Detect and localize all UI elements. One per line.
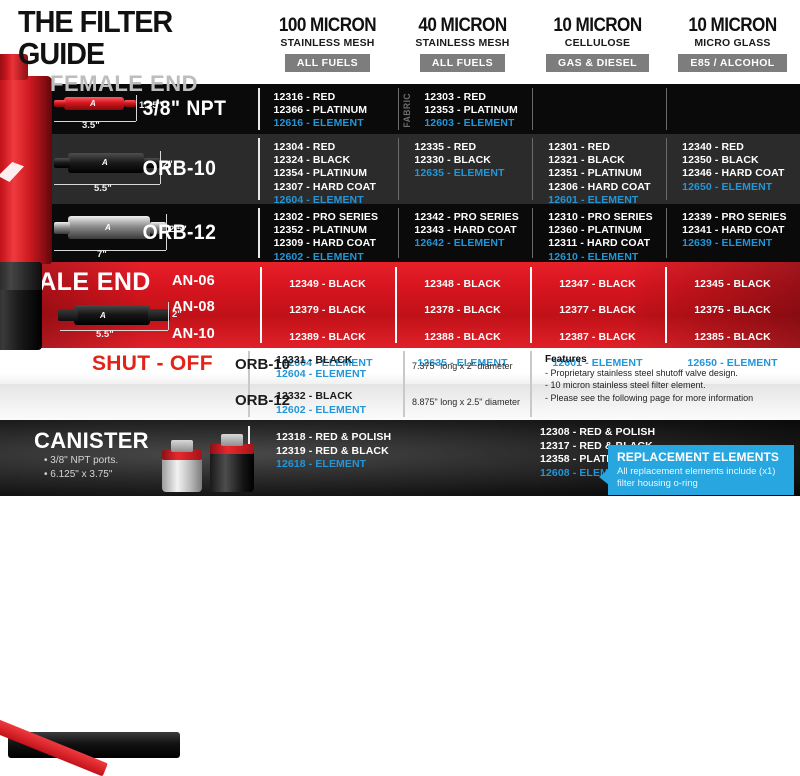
male-part-number-cell: 12345 - BLACK12375 - BLACK12385 - BLACK1… <box>665 262 800 348</box>
column-material: CELLULOSE <box>530 37 665 49</box>
product-grid: A3.5"1.25"3/8" NPT12316 - RED12366 - PLA… <box>0 84 800 499</box>
row-label: ORB-12 <box>139 221 216 245</box>
part-number: 12302 - PRO SERIES <box>274 211 399 224</box>
canister-specs: • 3/8" NPT ports. • 6.125" x 3.75" <box>44 454 118 482</box>
column-fuel-badge: GAS & DIESEL <box>546 54 649 72</box>
replacement-elements-callout: REPLACEMENT ELEMENTS All replacement ele… <box>608 445 794 495</box>
part-number: 12318 - RED & POLISH <box>276 431 391 445</box>
shut-off-parts-orb10: 12331 - BLACK 12604 - ELEMENT <box>276 354 366 381</box>
filter-end-right <box>124 100 136 107</box>
column-header-1: 100 MICRONSTAINLESS MESHALL FUELS <box>260 12 395 84</box>
male-part-number-cell: 12347 - BLACK12377 - BLACK12387 - BLACK1… <box>530 262 665 348</box>
part-number-cell: 12304 - RED12324 - BLACK12354 - PLATINUM… <box>258 134 399 204</box>
part-number: 12341 - HARD COAT <box>682 224 800 237</box>
feature-item: - Please see the following page for more… <box>545 392 753 405</box>
row-label: ORB-10 <box>139 157 216 181</box>
part-number: 12339 - PRO SERIES <box>682 211 800 224</box>
callout-title: REPLACEMENT ELEMENTS <box>617 450 786 465</box>
shut-off-parts-orb12: 12332 - BLACK 12602 - ELEMENT <box>276 390 366 417</box>
column-material: STAINLESS MESH <box>260 37 395 49</box>
part-number: 12353 - PLATINUM <box>424 104 532 117</box>
part-number-cell: 12302 - PRO SERIES12352 - PLATINUM12309 … <box>258 204 399 262</box>
part-number: 12343 - HARD COAT <box>414 224 532 237</box>
male-end-section: MALE END A 5.5" 2" AN-06AN-08AN-10 12349… <box>0 262 800 348</box>
male-filter-art: A 5.5" 2" <box>56 300 174 330</box>
filter-end-left <box>54 158 70 168</box>
part-number-cell: FABRIC12303 - RED12353 - PLATINUM12603 -… <box>398 84 532 134</box>
canister-bracket <box>171 440 193 452</box>
part-number: 12342 - PRO SERIES <box>414 211 532 224</box>
part-number: 12324 - BLACK <box>274 154 399 167</box>
column-header-3: 10 MICRONCELLULOSEGAS & DIESEL <box>530 12 665 84</box>
brand-logo-icon: A <box>102 158 108 167</box>
part-number: 12348 - BLACK <box>395 271 530 297</box>
column-fuel-badge: ALL FUELS <box>285 54 370 72</box>
part-number-cell: 12316 - RED12366 - PLATINUM12616 - ELEME… <box>258 84 399 134</box>
feature-item: - 10 micron stainless steel filter eleme… <box>545 379 753 392</box>
part-number: 12316 - RED <box>274 91 399 104</box>
part-number: 12352 - PLATINUM <box>274 224 399 237</box>
dim-length: 7" <box>97 249 107 260</box>
part-number-cell: 12310 - PRO SERIES12360 - PLATINUM12311 … <box>532 204 666 262</box>
element-part-number: 12642 - ELEMENT <box>414 237 532 250</box>
part-number: 12377 - BLACK <box>530 297 665 323</box>
part-number: 12389 - BLACK <box>260 324 395 350</box>
column-divider <box>665 267 667 343</box>
part-number: 12303 - RED <box>424 91 532 104</box>
column-fuel-badge: ALL FUELS <box>420 54 505 72</box>
dimension-line-vertical <box>136 95 137 121</box>
part-number: 12330 - BLACK <box>414 154 532 167</box>
title-block: THE FILTER GUIDE FEMALE END <box>18 6 268 66</box>
male-end-labels: AN-06AN-08AN-10 <box>172 268 215 347</box>
table-row: A5.5"2"ORB-1012304 - RED12324 - BLACK123… <box>0 134 800 204</box>
element-part-number: 12618 - ELEMENT <box>276 458 391 472</box>
canister-spec-item: • 3/8" NPT ports. <box>44 454 118 468</box>
row-label-cell: ORB-12 <box>139 204 258 262</box>
canister-bracket <box>221 434 243 446</box>
column-divider <box>395 267 397 343</box>
male-dim-diameter: 2" <box>172 309 182 320</box>
filter-guide-page: THE FILTER GUIDE FEMALE END 100 MICRONST… <box>0 0 800 499</box>
column-micron: 10 MICRON <box>537 16 659 36</box>
column-divider <box>666 138 667 200</box>
canister-art-polish <box>162 442 202 492</box>
column-divider <box>258 208 260 258</box>
filter-end-left <box>54 222 70 234</box>
column-divider <box>258 138 260 200</box>
table-row: A7"2.5"ORB-1212302 - PRO SERIES12352 - P… <box>0 204 800 262</box>
part-number: 12349 - BLACK <box>260 271 395 297</box>
element-part-number: 12616 - ELEMENT <box>274 117 399 130</box>
shut-off-dimension-orb10: 7.375" long x 2" diameter <box>412 361 512 371</box>
element-part-number: 12602 - ELEMENT <box>276 404 366 418</box>
canister-art-black <box>210 436 254 492</box>
part-number: 12388 - BLACK <box>395 324 530 350</box>
part-number-cell <box>666 84 800 134</box>
part-number-cell: 12335 - RED12330 - BLACK12635 - ELEMENT <box>398 134 532 204</box>
column-divider <box>666 88 667 130</box>
brand-logo-icon: A <box>105 223 111 232</box>
features-block: Features - Proprietary stainless steel s… <box>545 354 753 404</box>
part-number: 12321 - BLACK <box>548 154 666 167</box>
column-micron: 10 MICRON <box>672 16 794 36</box>
canister-parts-col1: 12318 - RED & POLISH12319 - RED & BLACK1… <box>276 431 391 472</box>
an-fitting-hex-art <box>0 262 42 290</box>
part-number-cell <box>532 84 666 134</box>
column-divider <box>260 267 262 343</box>
column-divider <box>398 208 399 258</box>
canister-spec-item: • 6.125" x 3.75" <box>44 468 118 482</box>
part-number: 12307 - HARD COAT <box>274 181 399 194</box>
column-divider <box>532 208 533 258</box>
callout-tail-icon <box>599 469 609 485</box>
element-part-number: 12635 - ELEMENT <box>414 167 532 180</box>
part-number: 12351 - PLATINUM <box>548 167 666 180</box>
features-title: Features <box>545 354 753 365</box>
part-number-cell: 12301 - RED12321 - BLACK12351 - PLATINUM… <box>532 134 666 204</box>
column-header-2: 40 MICRONSTAINLESS MESHALL FUELS <box>395 12 530 84</box>
part-number: 12340 - RED <box>682 141 800 154</box>
part-number: 12306 - HARD COAT <box>548 181 666 194</box>
part-number: 12332 - BLACK <box>276 390 366 404</box>
element-part-number: 12639 - ELEMENT <box>682 237 800 250</box>
female-end-rows: A3.5"1.25"3/8" NPT12316 - RED12366 - PLA… <box>0 84 800 262</box>
fabric-tag: FABRIC <box>402 93 412 128</box>
row-label-cell: ORB-10 <box>139 134 258 204</box>
canister-body <box>210 452 254 492</box>
part-number: 12387 - BLACK <box>530 324 665 350</box>
feature-item: - Proprietary stainless steel shutoff va… <box>545 367 753 380</box>
dim-length: 3.5" <box>82 120 100 131</box>
part-number: 12350 - BLACK <box>682 154 800 167</box>
column-divider <box>530 267 532 343</box>
element-part-number: 12604 - ELEMENT <box>276 368 366 382</box>
page-title: THE FILTER GUIDE <box>18 6 251 70</box>
part-number: 12309 - HARD COAT <box>274 237 399 250</box>
male-dim-length: 5.5" <box>96 329 114 340</box>
column-header-4: 10 MICRONMICRO GLASSE85 / ALCOHOL <box>665 12 800 84</box>
shut-off-dimension-orb12: 8.875" long x 2.5" diameter <box>412 397 520 407</box>
callout-body: All replacement elements include (x1) fi… <box>617 466 786 489</box>
fuel-bottle-art <box>0 76 52 264</box>
part-number: 12301 - RED <box>548 141 666 154</box>
element-part-number: 12650 - ELEMENT <box>682 181 800 194</box>
canister-body <box>162 458 202 492</box>
male-end-label-3: AN-10 <box>172 321 215 347</box>
brand-logo-icon: A <box>90 99 96 108</box>
part-number-cell: 12340 - RED12350 - BLACK12346 - HARD COA… <box>666 134 800 204</box>
part-number: 12347 - BLACK <box>530 271 665 297</box>
part-number: 12379 - BLACK <box>260 297 395 323</box>
column-headers: 100 MICRONSTAINLESS MESHALL FUELS40 MICR… <box>260 12 800 84</box>
part-number: 12331 - BLACK <box>276 354 366 368</box>
part-number: 12311 - HARD COAT <box>548 237 666 250</box>
male-end-part-columns: 12349 - BLACK12379 - BLACK12389 - BLACK1… <box>260 262 800 348</box>
male-part-number-cell: 12349 - BLACK12379 - BLACK12389 - BLACK1… <box>260 262 395 348</box>
column-material: MICRO GLASS <box>665 37 800 49</box>
part-number: 12378 - BLACK <box>395 297 530 323</box>
part-number: 12335 - RED <box>414 141 532 154</box>
row-label: 3/8" NPT <box>139 97 226 121</box>
column-divider <box>666 208 667 258</box>
brand-logo-icon <box>0 162 24 182</box>
part-number: 12354 - PLATINUM <box>274 167 399 180</box>
canister-section: CANISTER • 3/8" NPT ports. • 6.125" x 3.… <box>0 420 800 496</box>
column-divider <box>398 88 399 130</box>
section-title-shut-off: SHUT - OFF <box>92 352 213 376</box>
shut-off-valve-art <box>0 716 194 764</box>
male-end-label-1: AN-06 <box>172 268 215 294</box>
part-number: 12310 - PRO SERIES <box>548 211 666 224</box>
part-number: 12366 - PLATINUM <box>274 104 399 117</box>
column-micron: 40 MICRON <box>402 16 524 36</box>
section-title-canister: CANISTER <box>34 428 149 454</box>
section-title-female-end: FEMALE END <box>50 72 268 96</box>
part-number: 12345 - BLACK <box>665 271 800 297</box>
part-number: 12319 - RED & BLACK <box>276 445 391 459</box>
column-material: STAINLESS MESH <box>395 37 530 49</box>
column-divider <box>532 88 533 130</box>
part-number: 12346 - HARD COAT <box>682 167 800 180</box>
part-number: 12360 - PLATINUM <box>548 224 666 237</box>
column-divider <box>532 138 533 200</box>
element-part-number: 12603 - ELEMENT <box>424 117 532 130</box>
part-number: 12308 - RED & POLISH <box>540 426 655 440</box>
part-number-cell: 12339 - PRO SERIES12341 - HARD COAT12639… <box>666 204 800 262</box>
filter-end-left <box>54 100 66 107</box>
part-number-cell: 12342 - PRO SERIES12343 - HARD COAT12642… <box>398 204 532 262</box>
column-micron: 100 MICRON <box>267 16 389 36</box>
part-number: 12304 - RED <box>274 141 399 154</box>
dim-length: 5.5" <box>94 183 112 194</box>
part-number: 12385 - BLACK <box>665 324 800 350</box>
column-divider <box>398 138 399 200</box>
part-number: 12375 - BLACK <box>665 297 800 323</box>
column-fuel-badge: E85 / ALCOHOL <box>678 54 786 72</box>
male-part-number-cell: 12348 - BLACK12378 - BLACK12388 - BLACK1… <box>395 262 530 348</box>
